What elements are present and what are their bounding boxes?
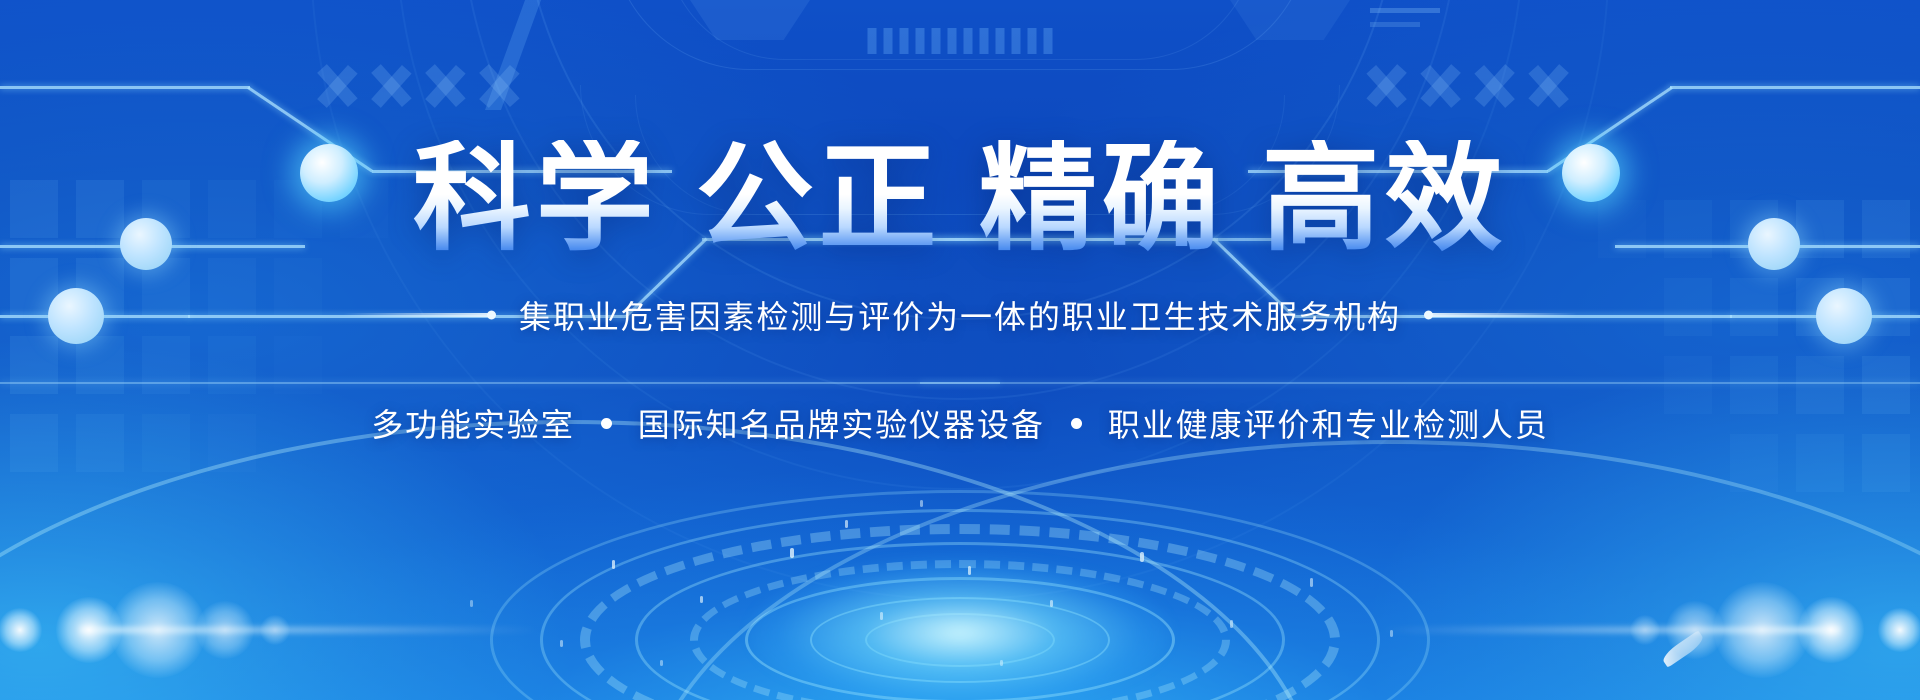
feature-item-2: 国际知名品牌实验仪器设备 — [638, 400, 1045, 446]
banner-content: 科学 公正 精确 高效 集职业危害因素检测与评价为一体的职业卫生技术服务机构 多… — [0, 0, 1920, 700]
page-title: 科学 公正 精确 高效 — [413, 140, 1507, 258]
subtitle-text: 集职业危害因素检测与评价为一体的职业卫生技术服务机构 — [519, 292, 1401, 338]
rule-left-decor — [343, 313, 493, 317]
feature-item-1: 多功能实验室 — [371, 400, 575, 446]
subtitle-row: 集职业危害因素检测与评价为一体的职业卫生技术服务机构 — [343, 292, 1577, 338]
feature-item-3: 职业健康评价和专业检测人员 — [1108, 400, 1549, 446]
rule-right-decor — [1427, 313, 1577, 317]
bullet-separator-icon — [601, 418, 612, 429]
feature-list: 多功能实验室 国际知名品牌实验仪器设备 职业健康评价和专业检测人员 — [371, 400, 1549, 446]
bullet-separator-icon — [1071, 418, 1082, 429]
hero-banner: 科学 公正 精确 高效 集职业危害因素检测与评价为一体的职业卫生技术服务机构 多… — [0, 0, 1920, 700]
